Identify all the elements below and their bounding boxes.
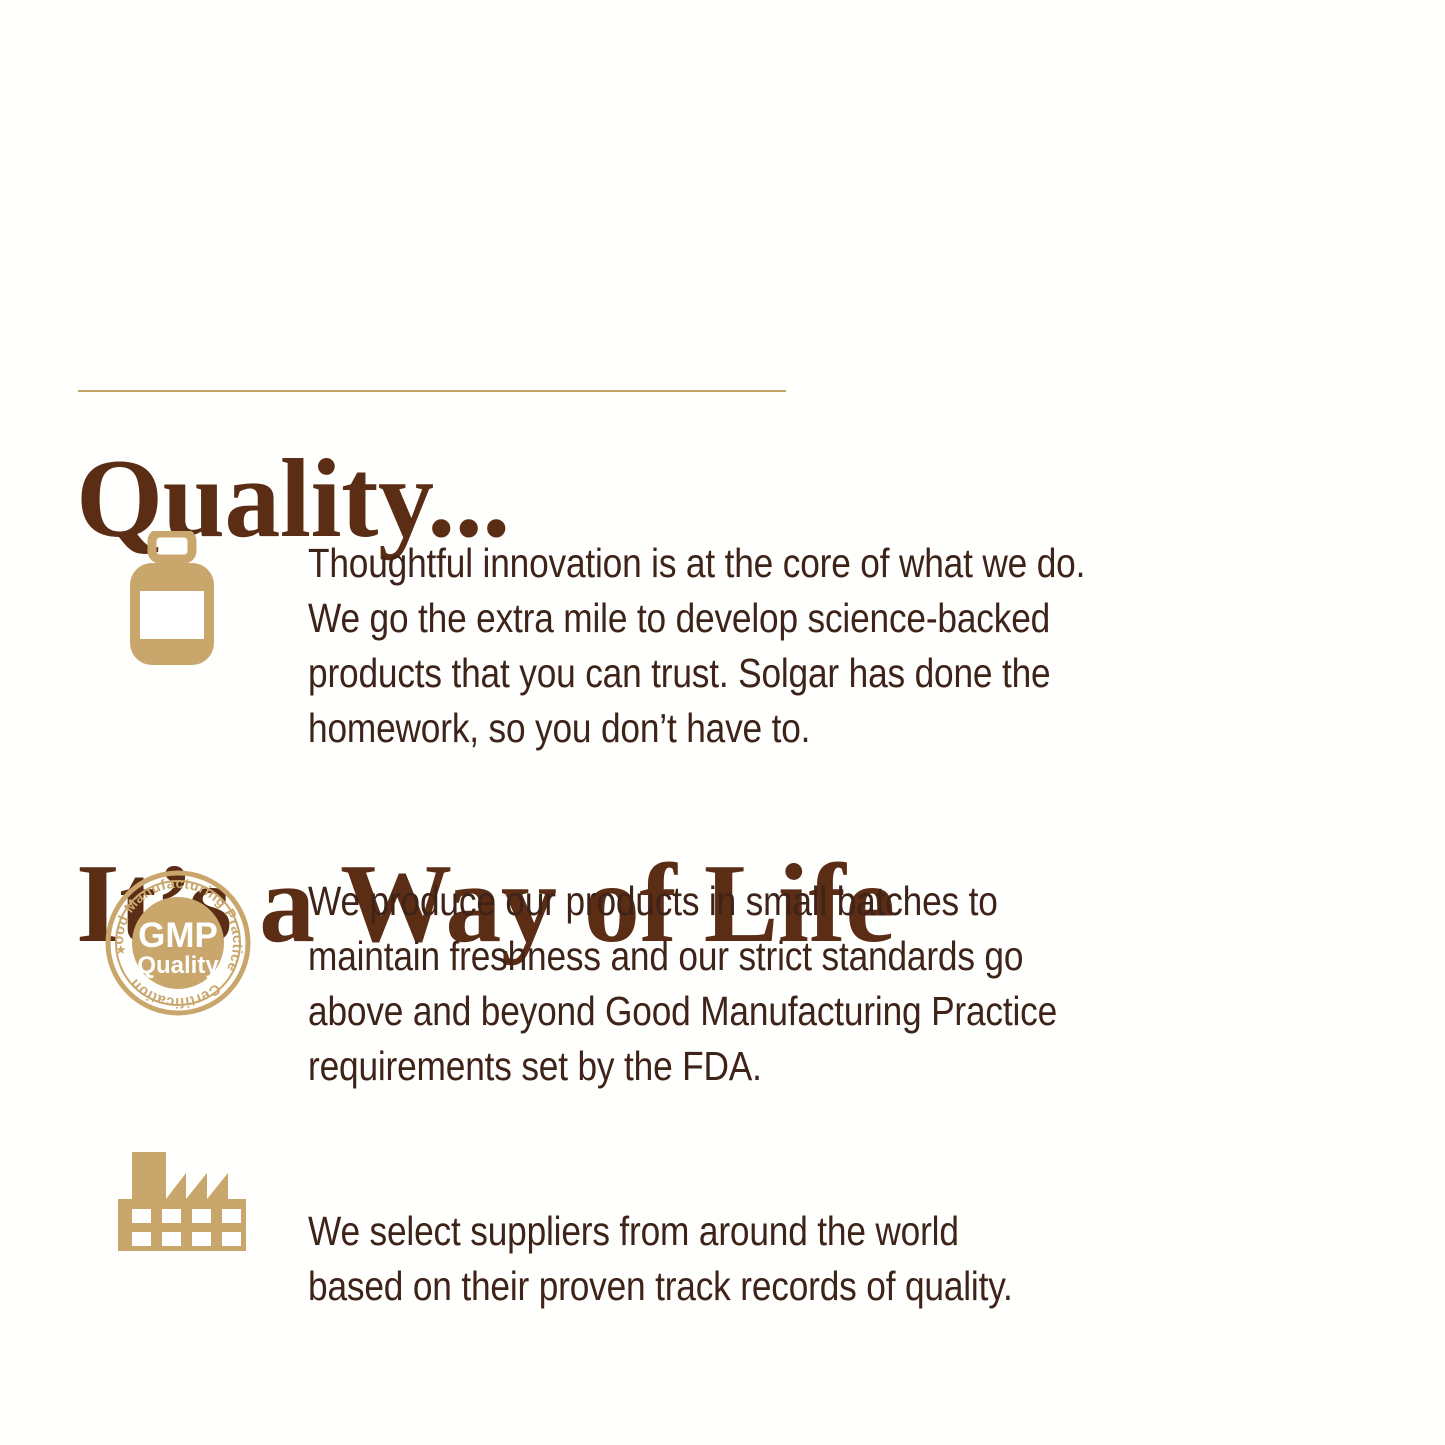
quality-panel: Quality... It’s a Way of Life Thoughtful… [0,0,1445,1445]
svg-text:★: ★ [115,943,127,958]
svg-text:GMP: GMP [138,916,218,955]
feature-text-suppliers: We select suppliers from around the worl… [308,1204,1280,1314]
svg-text:Quality: Quality [137,952,219,979]
feature-row-gmp: Good Manufacturing Practice Certificatio… [0,0,148,148]
gmp-quality-seal-icon: Good Manufacturing Practice Certificatio… [104,869,252,1017]
feature-row-innovation: Thoughtful innovation is at the core of … [0,0,1445,220]
feature-text-gmp: We produce our products in small batches… [308,874,1306,1094]
supplement-bottle-icon [128,531,216,667]
feature-text-innovation: Thoughtful innovation is at the core of … [308,536,1323,756]
factory-icon [114,1147,252,1254]
divider-rule [78,390,786,392]
